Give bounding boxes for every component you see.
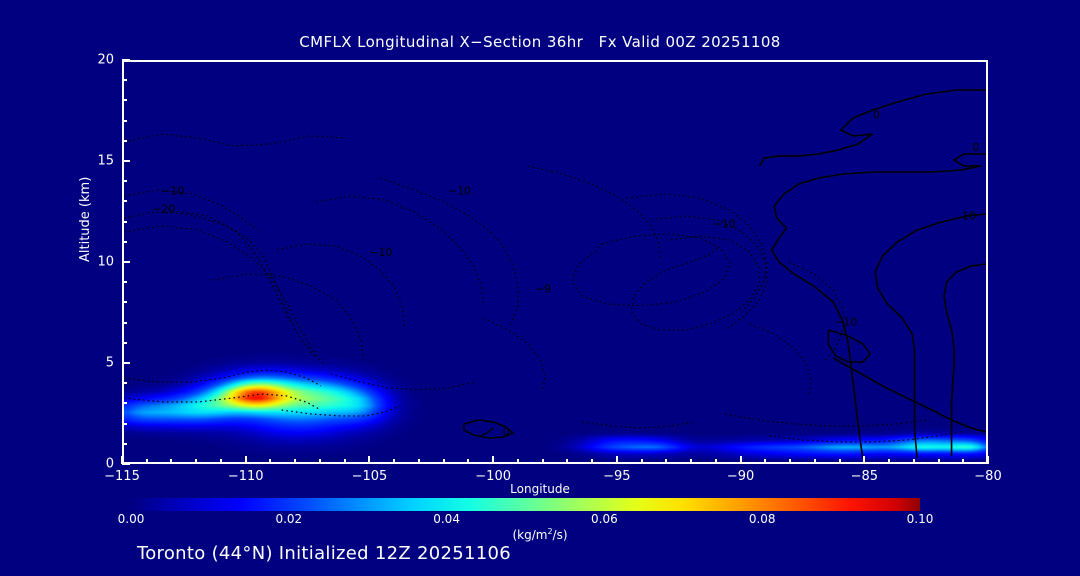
x-tick-mark: [938, 459, 940, 464]
contour-dotted-lowlevel-center: [582, 422, 695, 428]
contour-solid-slant-east: [833, 358, 986, 432]
colorbar-tick-label: 0.06: [569, 512, 639, 526]
x-tick-mark: [814, 459, 816, 464]
contour-dotted-lowlevel-west: [124, 370, 321, 386]
contour-label: −10: [161, 185, 184, 198]
contour-label: −10: [834, 315, 857, 328]
plot-area: −10−20−10−10−9−10−1000100: [122, 60, 988, 464]
x-tick-mark: [170, 459, 172, 464]
x-tick-mark: [319, 459, 321, 464]
x-tick-mark: [715, 459, 717, 464]
contour-dotted-lower-west: [124, 226, 323, 364]
contour-dotted-lower-east: [750, 324, 812, 394]
x-tick-mark: [863, 456, 865, 464]
y-tick-mark: [122, 443, 127, 445]
contour-dotted-low-arc: [331, 374, 474, 390]
x-tick-mark: [888, 459, 890, 464]
contour-overlay: −10−20−10−10−9−10−1000100: [124, 62, 986, 462]
y-tick-mark: [122, 423, 127, 425]
y-tick-label: 20: [74, 53, 114, 68]
x-axis-label: Longitude: [0, 482, 1080, 496]
y-tick-mark: [122, 59, 130, 61]
contour-dotted-center-b: [316, 196, 483, 306]
contour-label: 0: [973, 141, 980, 154]
x-tick-mark: [962, 459, 964, 464]
x-tick-mark: [269, 459, 271, 464]
y-tick-label: 5: [74, 356, 114, 371]
y-tick-mark: [122, 402, 127, 404]
y-tick-mark: [122, 261, 130, 263]
y-tick-mark: [122, 180, 127, 182]
x-tick-mark: [517, 459, 519, 464]
y-tick-mark: [122, 120, 127, 122]
y-tick-mark: [122, 322, 127, 324]
contour-dotted-m10-far-east: [789, 262, 843, 362]
contour-dotted-branch-a: [168, 210, 316, 358]
x-tick-mark: [839, 459, 841, 464]
contour-label: −10: [369, 246, 392, 259]
contour-solid-loop-tick: [479, 428, 494, 437]
x-tick-mark: [195, 459, 197, 464]
x-tick-mark: [146, 459, 148, 464]
contour-label: −10: [448, 185, 471, 198]
contour-dotted-m10-center: [380, 178, 518, 324]
x-tick-mark: [393, 459, 395, 464]
x-tick-mark: [987, 456, 989, 464]
colorbar-tick-label: 0.04: [412, 512, 482, 526]
contour-dotted-east-a: [528, 166, 661, 258]
x-tick-mark: [690, 459, 692, 464]
x-tick-mark: [344, 459, 346, 464]
y-tick-mark: [122, 281, 127, 283]
contour-dotted-ellipse-inner: [631, 236, 759, 330]
y-tick-mark: [122, 463, 130, 465]
x-tick-mark: [443, 459, 445, 464]
x-tick-mark: [245, 456, 247, 464]
x-tick-mark: [641, 459, 643, 464]
colorbar-tick-label: 0.02: [254, 512, 324, 526]
colorbar: [131, 498, 920, 511]
x-tick-mark: [542, 459, 544, 464]
contour-label: 0: [503, 425, 510, 438]
y-tick-mark: [122, 200, 127, 202]
contour-label: −20: [152, 203, 175, 216]
contour-solid-10-inner: [944, 264, 986, 456]
y-tick-label: 15: [74, 154, 114, 169]
y-axis-label: Altitude (km): [78, 177, 93, 262]
x-tick-mark: [789, 459, 791, 464]
x-tick-mark: [492, 456, 494, 464]
y-tick-mark: [122, 79, 127, 81]
y-tick-mark: [122, 140, 127, 142]
x-tick-mark: [220, 459, 222, 464]
contour-label: −9: [535, 283, 551, 296]
plot-root: CMFLX Longitudinal X−Section 36hr Fx Val…: [0, 0, 1080, 576]
contour-dotted-m10-west: [124, 190, 257, 230]
contour-dotted-mid-b: [213, 274, 363, 356]
contour-label: 10: [962, 209, 976, 222]
contour-dotted-lowlevel-west-c: [282, 406, 400, 416]
y-tick-mark: [122, 362, 130, 364]
y-tick-mark: [122, 160, 130, 162]
contour-dotted-m10-east: [626, 194, 766, 314]
x-tick-mark: [591, 459, 593, 464]
contour-dotted-lowlevel-east-b: [769, 432, 961, 442]
x-tick-mark: [740, 456, 742, 464]
contour-dotted-lowlevel-west-b: [124, 394, 321, 410]
x-tick-mark: [566, 459, 568, 464]
colorbar-gradient: [131, 498, 920, 511]
contour-solid-10: [875, 214, 986, 458]
x-tick-mark: [616, 456, 618, 464]
y-tick-mark: [122, 241, 127, 243]
x-tick-mark: [294, 459, 296, 464]
x-tick-mark: [764, 459, 766, 464]
y-tick-mark: [122, 342, 127, 344]
contour-label: −10: [713, 217, 736, 230]
contour-dotted-lower-center: [484, 318, 546, 390]
y-tick-mark: [122, 301, 127, 303]
x-tick-mark: [418, 459, 420, 464]
x-tick-mark: [467, 459, 469, 464]
contour-label: 0: [873, 108, 880, 121]
plot-caption: Toronto (44°N) Initialized 12Z 20251106: [137, 543, 511, 564]
colorbar-units-label: (kg/m2/s): [0, 527, 1080, 542]
y-tick-mark: [122, 221, 127, 223]
contour-solid-0-upper: [759, 90, 986, 166]
y-tick-mark: [122, 99, 127, 101]
y-tick-mark: [122, 382, 127, 384]
colorbar-tick-label: 0.08: [727, 512, 797, 526]
contour-dotted-upper: [124, 134, 346, 146]
x-tick-mark: [368, 456, 370, 464]
colorbar-tick-label: 0.10: [885, 512, 955, 526]
contour-solid-0-main: [772, 154, 986, 458]
colorbar-tick-label: 0.00: [96, 512, 166, 526]
contour-dotted-lowlevel-east: [725, 414, 927, 426]
x-tick-mark: [121, 456, 123, 464]
x-tick-mark: [913, 459, 915, 464]
contour-dotted-ellipse-outer: [572, 234, 730, 306]
x-tick-mark: [665, 459, 667, 464]
plot-title: CMFLX Longitudinal X−Section 36hr Fx Val…: [0, 33, 1080, 51]
contour-dotted-east-c: [651, 216, 767, 330]
